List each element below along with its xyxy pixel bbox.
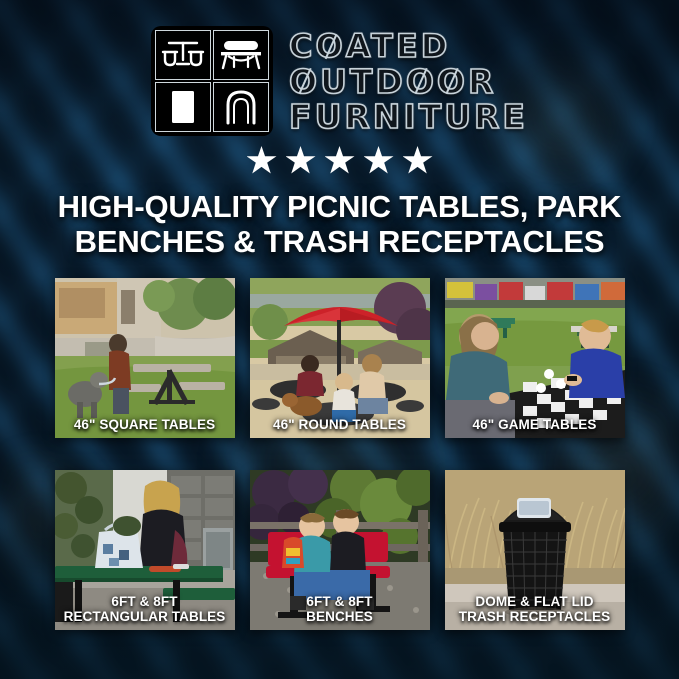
brand-name-line-3: FURNITURE xyxy=(289,100,528,134)
trash-receptacle-icon xyxy=(155,82,211,132)
brand-wordmark: COATED OUTDOOR FURNITURE xyxy=(289,28,528,134)
headline-line-1: HIGH-QUALITY PICNIC TABLES, PARK xyxy=(40,189,640,224)
product-grid: 46" SQUARE TABLES xyxy=(55,278,625,630)
star-icon xyxy=(247,146,277,175)
product-tile-round-tables[interactable]: 46" ROUND TABLES xyxy=(250,278,430,438)
product-tile-trash-receptacles[interactable]: DOME & FLAT LID TRASH RECEPTACLES xyxy=(445,470,625,630)
product-caption: 46" ROUND TABLES xyxy=(250,418,430,433)
banner-content: COATED OUTDOOR FURNITURE HIGH-QUALITY PI… xyxy=(0,0,679,679)
caption-line-1: 46" ROUND TABLES xyxy=(254,418,426,433)
picnic-table-icon xyxy=(155,30,211,80)
caption-line-2: BENCHES xyxy=(254,610,426,625)
product-caption: 6FT & 8FT BENCHES xyxy=(250,595,430,625)
product-photo xyxy=(250,278,430,438)
star-icon xyxy=(325,146,355,175)
product-tile-benches[interactable]: 6FT & 8FT BENCHES xyxy=(250,470,430,630)
caption-line-1: 46" SQUARE TABLES xyxy=(59,418,231,433)
brand-logo: COATED OUTDOOR FURNITURE xyxy=(151,26,528,136)
caption-line-1: 46" GAME TABLES xyxy=(449,418,621,433)
product-tile-square-tables[interactable]: 46" SQUARE TABLES xyxy=(55,278,235,438)
product-photo xyxy=(55,278,235,438)
bike-rack-arch-icon xyxy=(213,82,269,132)
product-caption: 46" SQUARE TABLES xyxy=(55,418,235,433)
logo-icon-grid xyxy=(151,26,273,136)
headline: HIGH-QUALITY PICNIC TABLES, PARK BENCHES… xyxy=(40,189,640,260)
product-caption: DOME & FLAT LID TRASH RECEPTACLES xyxy=(445,595,625,625)
brand-name-line-2: OUTDOOR xyxy=(289,65,496,99)
star-rating xyxy=(247,146,433,175)
star-icon xyxy=(364,146,394,175)
star-icon xyxy=(286,146,316,175)
caption-line-2: TRASH RECEPTACLES xyxy=(449,610,621,625)
product-caption: 6FT & 8FT RECTANGULAR TABLES xyxy=(55,595,235,625)
product-caption: 46" GAME TABLES xyxy=(445,418,625,433)
product-tile-game-tables[interactable]: 46" GAME TABLES xyxy=(445,278,625,438)
star-icon xyxy=(403,146,433,175)
product-tile-rectangular-tables[interactable]: 6FT & 8FT RECTANGULAR TABLES xyxy=(55,470,235,630)
caption-line-1: 6FT & 8FT xyxy=(254,595,426,610)
caption-line-1: DOME & FLAT LID xyxy=(449,595,621,610)
product-banner: COATED OUTDOOR FURNITURE HIGH-QUALITY PI… xyxy=(0,0,679,679)
product-photo xyxy=(445,278,625,438)
park-bench-icon xyxy=(213,30,269,80)
caption-line-1: 6FT & 8FT xyxy=(59,595,231,610)
headline-line-2: BENCHES & TRASH RECEPTACLES xyxy=(40,224,640,259)
brand-name-line-1: COATED xyxy=(289,30,450,63)
caption-line-2: RECTANGULAR TABLES xyxy=(59,610,231,625)
